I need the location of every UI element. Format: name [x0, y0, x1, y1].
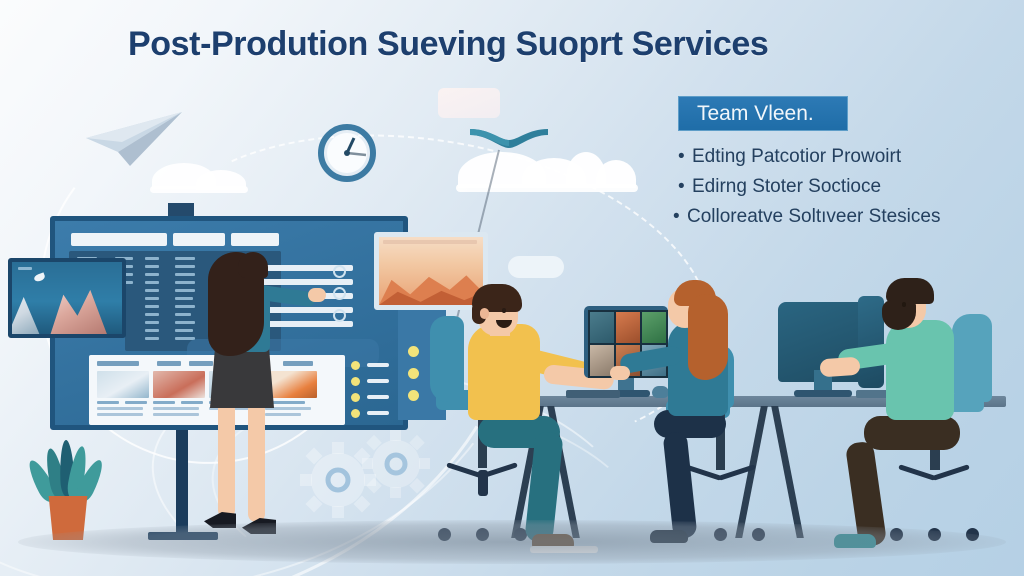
task-line [367, 379, 389, 383]
status-dot [351, 409, 360, 418]
list-item: •Edirng Stoter Soctioce [678, 176, 881, 198]
table-cell [145, 257, 159, 260]
bullet-glyph: • [678, 176, 692, 198]
task-line [367, 363, 389, 367]
table-cell [175, 305, 195, 308]
gallery-heading [97, 361, 139, 366]
editor-bearded-shirt [886, 320, 954, 420]
status-dot [408, 368, 419, 379]
presenter-hair-front [238, 252, 268, 278]
task-line [367, 411, 389, 415]
gallery-caption [97, 413, 143, 416]
bullet-glyph: • [673, 206, 687, 228]
table-cell [175, 265, 195, 268]
editor-yellow-eye [502, 308, 506, 313]
status-badge: Team Vleen. [678, 96, 848, 131]
table-cell [145, 313, 159, 316]
table-cell [175, 321, 195, 324]
list-item: •Edting Patcotior Prowoirt [678, 146, 901, 168]
gallery-heading [157, 361, 181, 366]
gallery-caption [97, 401, 119, 404]
badge-label: Team Vleen. [697, 102, 814, 126]
status-dot [351, 361, 360, 370]
list-item: •Colloreatve Soltıveer Stesices [673, 206, 940, 228]
gallery-caption [97, 407, 143, 410]
page-title: Post-Prodution Sueving Suoprt Services [128, 25, 768, 64]
gallery-thumbnail[interactable] [97, 371, 149, 398]
table-cell [145, 273, 159, 276]
gallery-caption [153, 413, 199, 416]
presenter-leg-left [218, 400, 235, 518]
table-cell [175, 313, 191, 316]
table-cell [145, 281, 159, 284]
editor-yellow-ear [480, 308, 489, 319]
status-dot [351, 393, 360, 402]
presenter-skirt [210, 346, 274, 408]
paper-plane-icon [78, 108, 188, 175]
chip-rect-2 [508, 256, 564, 278]
wall-display-stand [176, 418, 188, 536]
figure-editor-yellow [448, 288, 598, 558]
gear-icon-2 [362, 430, 430, 503]
table-cell [175, 289, 195, 292]
infinity-ribbon-icon [468, 126, 550, 159]
monitor-base [794, 390, 852, 397]
toolbar-pill-3[interactable] [231, 233, 279, 246]
status-dot [408, 390, 419, 401]
presenter-hand [308, 288, 326, 302]
editor-auburn-hand [610, 366, 630, 380]
figure-editor-bearded [868, 284, 1008, 554]
bullet-text: Colloreatve Soltıveer Stesices [687, 206, 940, 227]
table-cell [145, 265, 159, 268]
presenter-leg-right [248, 400, 265, 522]
table-cell [145, 289, 159, 292]
status-dot [351, 377, 360, 386]
table-cell [145, 321, 159, 324]
cloud-base-1 [150, 186, 248, 193]
cloud-4 [522, 158, 586, 188]
floor-shadow [18, 520, 1006, 564]
video-tile[interactable] [616, 312, 640, 343]
chip-rect-1 [438, 88, 500, 118]
bullet-glyph: • [678, 146, 692, 168]
bullet-text: Edirng Stoter Soctioce [692, 176, 881, 197]
cloud-3 [458, 152, 546, 188]
editor-auburn-ponytail [688, 294, 728, 380]
monitor-label [18, 267, 32, 270]
status-dot [408, 346, 419, 357]
gallery-caption [153, 407, 199, 410]
editor-bearded-eye [902, 302, 906, 307]
toolbar-pill-1[interactable] [71, 233, 167, 246]
keyboard[interactable] [566, 390, 620, 398]
task-line [367, 395, 389, 399]
radio-option[interactable] [333, 265, 346, 278]
gallery-caption [125, 401, 147, 404]
toolbar-pill-2[interactable] [173, 233, 225, 246]
table-cell [175, 281, 195, 284]
cloud-1 [152, 163, 216, 189]
editor-bearded-forearm [819, 357, 860, 378]
table-cell [175, 297, 193, 300]
bullet-text: Edting Patcotior Prowoirt [692, 146, 901, 167]
cloud-5 [566, 152, 606, 188]
editor-yellow-shirt [468, 324, 540, 420]
gallery-caption [153, 401, 175, 404]
table-cell [145, 337, 159, 340]
video-tile[interactable] [590, 312, 614, 343]
clock-icon [318, 124, 376, 187]
figure-presenter [196, 262, 316, 562]
table-cell [175, 273, 195, 276]
monitor-timeline [383, 240, 477, 244]
table-cell [145, 305, 159, 308]
table-cell [175, 257, 195, 260]
table-cell [145, 297, 159, 300]
editor-bearded-thigh [864, 416, 960, 450]
table-cell [145, 329, 159, 332]
radio-option[interactable] [333, 287, 346, 300]
illustration-canvas: Post-Prodution Sueving Suoprt Services T… [0, 0, 1024, 576]
radio-option[interactable] [333, 309, 346, 322]
cloud-2 [196, 170, 246, 190]
cloud-base-2 [456, 184, 638, 192]
cloud-6 [596, 160, 636, 188]
figure-editor-auburn [654, 282, 784, 552]
table-cell [175, 329, 193, 332]
floating-preview-monitor[interactable] [8, 258, 126, 338]
